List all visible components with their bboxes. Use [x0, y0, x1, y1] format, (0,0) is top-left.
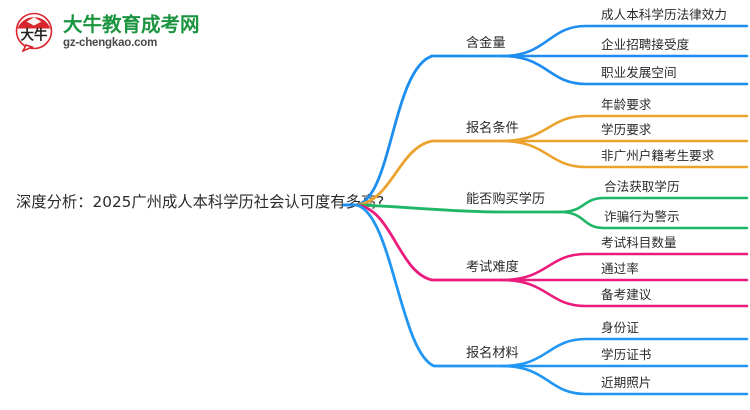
branch-wire-5	[356, 205, 747, 394]
brand-name: 大牛教育成考网	[63, 15, 200, 36]
site-logo: 大牛 大牛教育成考网 gz-chengkao.com	[14, 10, 214, 54]
branch-wire-4	[356, 205, 747, 306]
svg-text:大牛: 大牛	[21, 27, 48, 44]
brand-domain: gz-chengkao.com	[63, 37, 200, 50]
branch-label-3[interactable]: 能否购买学历	[466, 192, 545, 208]
root-node-title: 深度分析：2025广州成人本科学历社会认可度有多高?	[16, 191, 346, 213]
branch-wire-3	[356, 198, 747, 228]
leaf-label-3-2[interactable]: 诈骗行为警示	[604, 209, 680, 224]
leaf-label-2-1[interactable]: 年龄要求	[601, 97, 651, 112]
leaf-label-5-2[interactable]: 学历证书	[601, 347, 651, 362]
branch-label-2[interactable]: 报名条件	[466, 121, 519, 137]
leaf-label-1-3[interactable]: 职业发展空间	[601, 65, 677, 80]
branch-label-1[interactable]: 含金量	[466, 36, 506, 52]
leaf-label-3-1[interactable]: 合法获取学历	[604, 179, 680, 194]
leaf-label-2-3[interactable]: 非广州户籍考生要求	[601, 148, 714, 163]
leaf-label-1-2[interactable]: 企业招聘接受度	[601, 37, 689, 52]
branch-label-4[interactable]: 考试难度	[466, 260, 519, 276]
leaf-label-4-2[interactable]: 通过率	[601, 261, 639, 276]
leaf-label-4-3[interactable]: 备考建议	[601, 287, 651, 302]
branch-wire-1	[356, 26, 747, 205]
branch-label-5[interactable]: 报名材料	[466, 346, 519, 362]
logo-mark-icon: 大牛	[14, 12, 56, 52]
leaf-label-4-1[interactable]: 考试科目数量	[601, 235, 677, 250]
leaf-label-1-1[interactable]: 成人本科学历法律效力	[601, 7, 727, 22]
mindmap-canvas: 大牛 大牛教育成考网 gz-chengkao.com 深度分析：2025广州成人…	[0, 0, 750, 410]
leaf-label-5-3[interactable]: 近期照片	[601, 375, 651, 390]
leaf-label-5-1[interactable]: 身份证	[601, 320, 639, 335]
leaf-label-2-2[interactable]: 学历要求	[601, 122, 651, 137]
